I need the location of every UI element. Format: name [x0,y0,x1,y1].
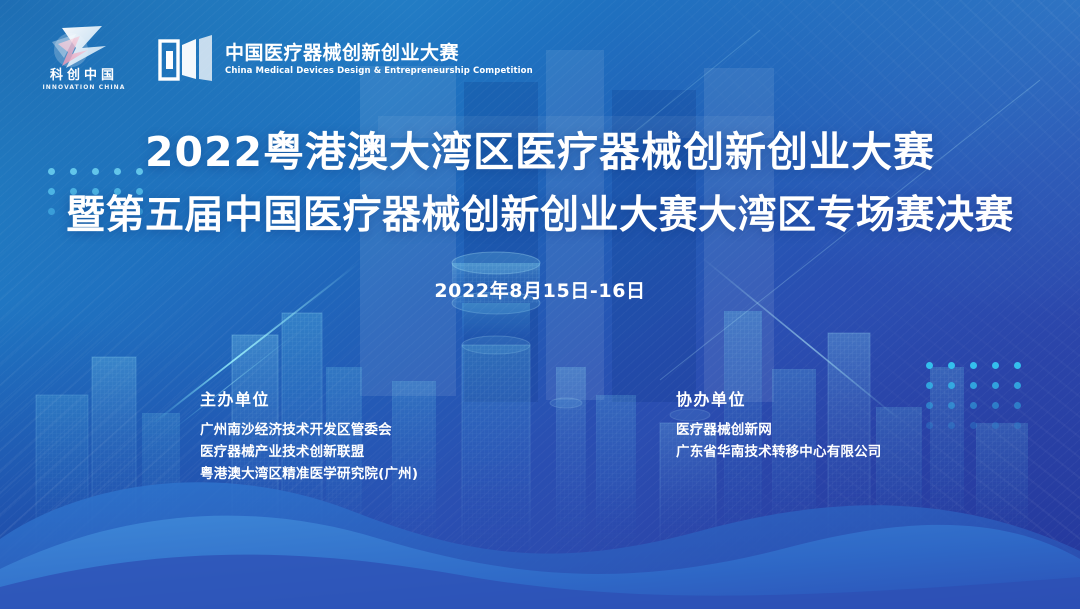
co-organizers-block: 协办单位 医疗器械创新网 广东省华南技术转移中心有限公司 [676,390,882,463]
event-date: 2022年8月15日-16日 [0,276,1080,303]
innovation-china-bird-icon [42,24,116,70]
innovation-china-cn-label: 科创中国 [36,68,132,83]
logo-header: 科创中国 INNOVATION CHINA 中国医疗器械创新创业大赛 China… [36,24,533,96]
host-organizer-item: 广州南沙经济技术开发区管委会 [200,419,418,441]
competition-cn-title: 中国医疗器械创新创业大赛 [225,43,533,64]
open-door-book-icon [158,35,214,85]
headline-block: 2022粤港澳大湾区医疗器械创新创业大赛 暨第五届中国医疗器械创新创业大赛大湾区… [0,124,1080,303]
event-title-line-1: 2022粤港澳大湾区医疗器械创新创业大赛 [0,124,1080,180]
host-organizer-item: 医疗器械产业技术创新联盟 [200,441,418,463]
dot-grid-right [926,362,1036,434]
logo-innovation-china: 科创中国 INNOVATION CHINA [36,24,132,96]
co-organizer-item: 广东省华南技术转移中心有限公司 [676,441,882,463]
host-organizers-block: 主办单位 广州南沙经济技术开发区管委会 医疗器械产业技术创新联盟 粤港澳大湾区精… [200,390,418,485]
co-organizers-heading: 协办单位 [676,390,882,410]
competition-en-title: China Medical Devices Design & Entrepren… [225,66,533,77]
event-poster: 科创中国 INNOVATION CHINA 中国医疗器械创新创业大赛 China… [0,0,1080,609]
innovation-china-en-label: INNOVATION CHINA [36,84,132,91]
logo-competition: 中国医疗器械创新创业大赛 China Medical Devices Desig… [158,35,533,85]
host-organizer-item: 粤港澳大湾区精准医学研究院(广州) [200,463,418,485]
bottom-wave-shapes [0,419,1080,609]
co-organizer-item: 医疗器械创新网 [676,419,882,441]
host-organizers-heading: 主办单位 [200,390,418,410]
event-title-line-2: 暨第五届中国医疗器械创新创业大赛大湾区专场赛决赛 [0,188,1080,244]
